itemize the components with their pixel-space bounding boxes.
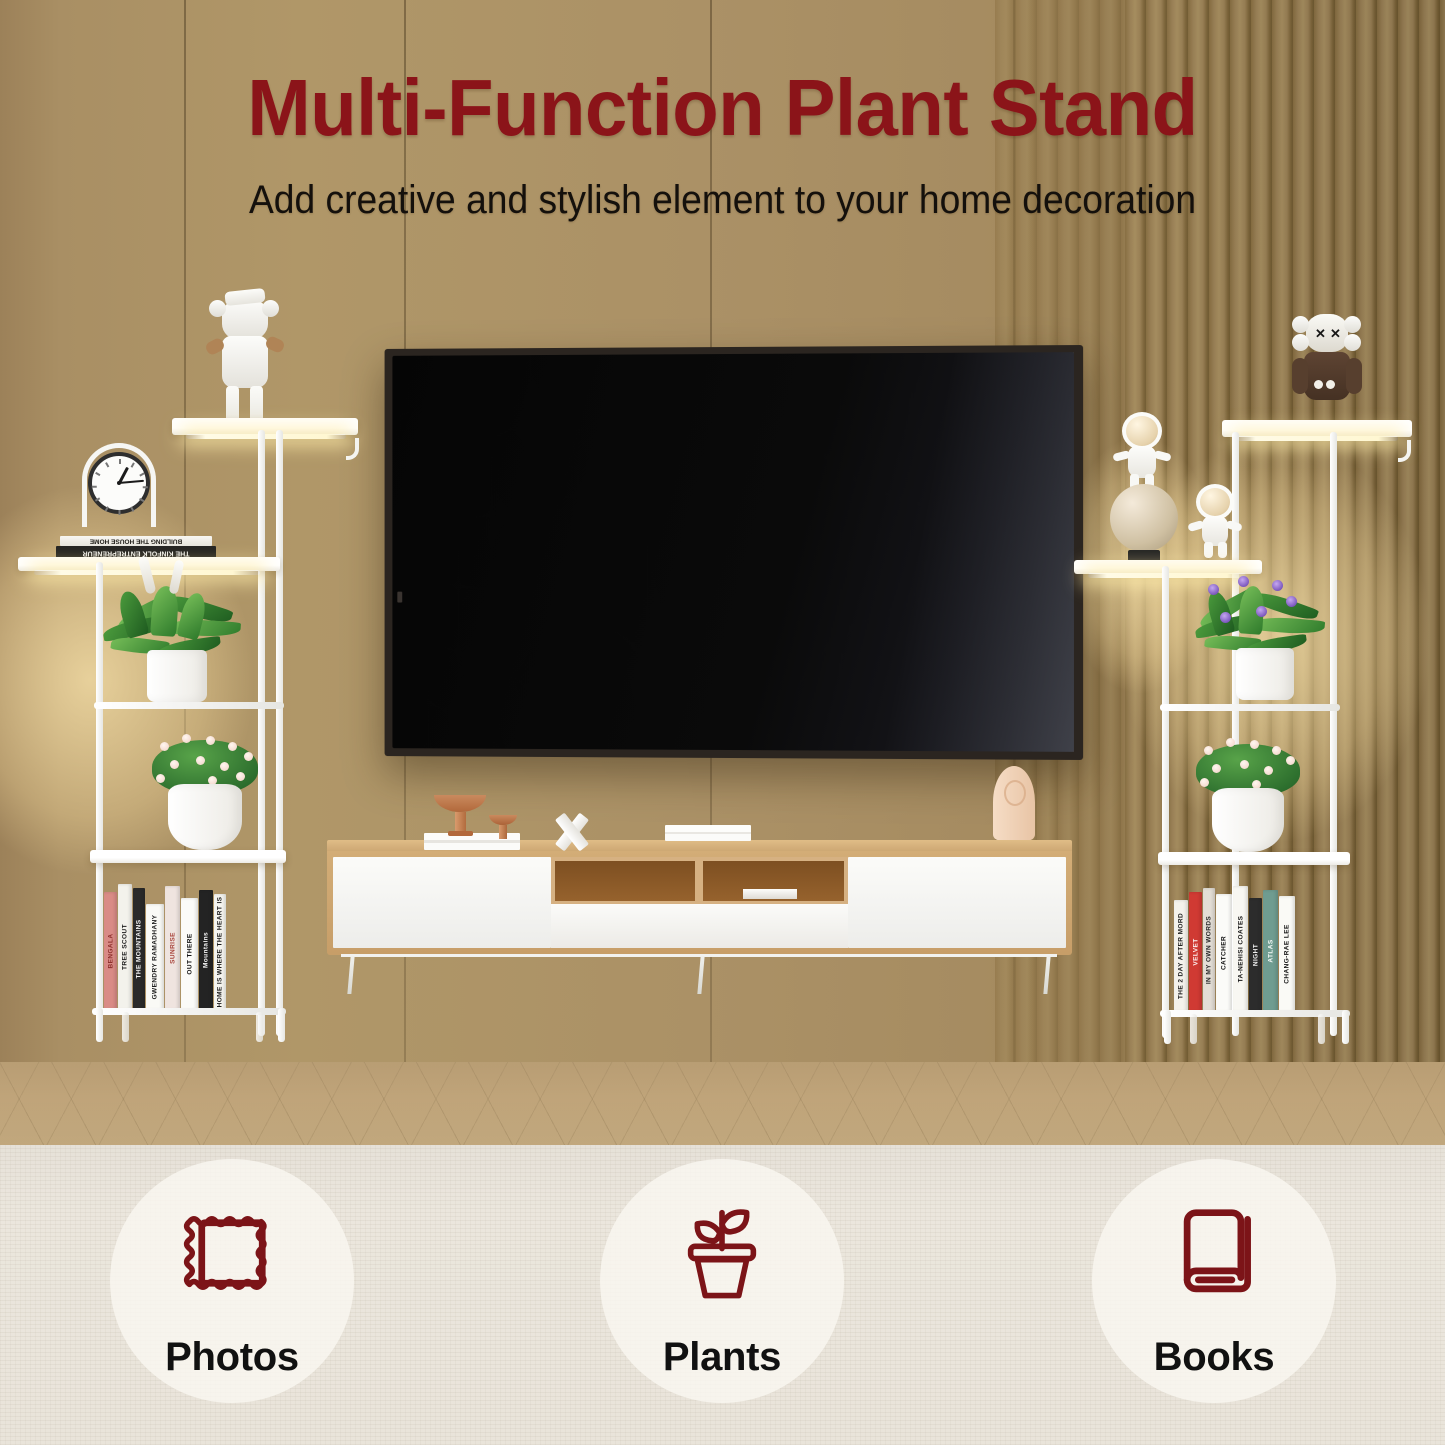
- clock-face: [88, 452, 150, 514]
- stand-foot: [122, 1012, 129, 1042]
- photo-frame-icon: [176, 1197, 288, 1309]
- console-door-left: [333, 857, 551, 948]
- stand-foot: [1164, 1010, 1171, 1044]
- kaws-ear-right: [1344, 316, 1361, 333]
- book-spine: BENGALA: [104, 892, 117, 1010]
- feature-label: Books: [1080, 1335, 1348, 1380]
- x-sculpture: [551, 812, 593, 852]
- feature-photos: Photos: [98, 1159, 366, 1427]
- feature-label: Plants: [588, 1335, 856, 1380]
- book-spine: CATCHER: [1216, 894, 1232, 1012]
- book-spine: HOME IS WHERE THE HEART IS: [214, 894, 226, 1010]
- stand-foot: [1342, 1010, 1349, 1044]
- stand-post: [1162, 566, 1169, 1038]
- book-spine: SUNRISE: [165, 886, 180, 1010]
- face-vase-sculpture: [993, 766, 1035, 840]
- feature-bar: Photos Plants Books: [0, 1145, 1445, 1445]
- book-spine: Mountains: [199, 890, 213, 1010]
- book-spine: TA-NEHISI COATES: [1233, 886, 1248, 1012]
- stand-post: [258, 430, 265, 1036]
- console-cubby-left: [555, 861, 695, 901]
- cubby-book-stack: [743, 889, 797, 899]
- tv-power-button: [397, 592, 402, 603]
- console-book-stack-right: [665, 825, 751, 841]
- led-strip-top: [186, 434, 346, 439]
- bowl-cup: [489, 815, 517, 825]
- kaws-ear-left-2: [1292, 334, 1309, 351]
- book-row-right: THE 2 DAY AFTER MORD VELVET IN MY OWN WO…: [1174, 882, 1295, 1012]
- book-spine: CHANG-RAE LEE: [1279, 896, 1295, 1012]
- plant-pot-round: [168, 784, 242, 850]
- moon-ball: [1110, 484, 1178, 552]
- kaws-button: [1326, 380, 1335, 389]
- top-shelf: [172, 418, 358, 435]
- bowl-base: [448, 831, 473, 836]
- wall-mounted-tv: [385, 345, 1084, 760]
- feature-label: Photos: [98, 1335, 366, 1380]
- book-spine: ATLAS: [1263, 890, 1278, 1012]
- stand-foot: [96, 1008, 103, 1042]
- page-title: Multi-Function Plant Stand: [36, 62, 1409, 154]
- book-spine: IN MY OWN WORDS: [1203, 888, 1215, 1012]
- stand-rail: [94, 702, 284, 709]
- book-spine: THE MOUNTAINS: [133, 888, 145, 1010]
- stand-post: [96, 562, 103, 1038]
- book-spine: VELVET: [1189, 892, 1202, 1012]
- astronaut-leg-right: [1218, 542, 1227, 558]
- astronaut-helmet: [1196, 484, 1234, 520]
- kaws-body: [222, 336, 268, 388]
- book-spine: GWENDRY RAMADHANY: [146, 904, 164, 1010]
- table-clock: [82, 443, 156, 551]
- book-spine: TREE SCOUT: [118, 884, 132, 1010]
- feature-books: Books: [1080, 1159, 1348, 1427]
- room-scene: BUILDING THE HOUSE HOME THE KINFOLK ENTR…: [0, 0, 1445, 1145]
- kaws-ear-right: [262, 300, 279, 317]
- stand-post: [276, 430, 283, 1036]
- copper-bowl-large: [434, 795, 486, 836]
- bowl-stem: [499, 825, 507, 839]
- book-icon: [1158, 1197, 1270, 1309]
- book-spine: OUT THERE: [181, 898, 198, 1010]
- book-spine: THE 2 DAY AFTER MORD: [1174, 900, 1188, 1012]
- clock-center-dot: [117, 481, 121, 485]
- kaws-arm-right: [1346, 358, 1362, 394]
- kaws-body: [1304, 352, 1350, 400]
- astronaut-leg-left: [1204, 542, 1213, 558]
- kaws-ear-left: [209, 300, 226, 317]
- bowl-stem: [455, 812, 466, 831]
- led-strip-top: [1236, 436, 1398, 441]
- book-shelf-plate: [1158, 852, 1350, 865]
- stand-foot: [1190, 1014, 1197, 1044]
- kaws-ear-left: [1292, 316, 1309, 333]
- top-shelf: [1222, 420, 1412, 437]
- stand-foot: [278, 1008, 285, 1042]
- book-shelf-plate: [90, 850, 286, 863]
- bowl-cup: [434, 795, 486, 812]
- kaws-arm-left: [1292, 358, 1308, 394]
- clock-minute-hand: [119, 480, 144, 484]
- stand-rail: [1160, 704, 1340, 711]
- tv-media-console: [327, 840, 1072, 968]
- copper-bowl-small: [489, 815, 517, 839]
- page-subtitle: Add creative and stylish element to your…: [51, 178, 1395, 223]
- book-row-left: BENGALA TREE SCOUT THE MOUNTAINS GWENDRY…: [104, 880, 226, 1010]
- kaws-ear-right-2: [1344, 334, 1361, 351]
- console-drawer-middle: [551, 904, 848, 948]
- kaws-head: ✕ ✕: [1306, 314, 1348, 352]
- kaws-button: [1314, 380, 1323, 389]
- stand-post: [1330, 432, 1337, 1036]
- tv-screen-gloss: [826, 352, 1074, 752]
- console-cubby-right: [703, 861, 844, 901]
- console-body: [327, 851, 1072, 955]
- floor-sheen: [0, 1062, 1445, 1145]
- console-leg-rail: [341, 954, 1057, 957]
- book-spine: NIGHT: [1249, 898, 1262, 1012]
- stand-foot: [256, 1012, 263, 1042]
- plant-pot-round: [1212, 788, 1284, 852]
- shelf-book-top: BUILDING THE HOUSE HOME: [60, 536, 212, 546]
- tv-screen: [392, 352, 1074, 752]
- stand-foot: [1318, 1014, 1325, 1044]
- console-door-right: [848, 857, 1066, 948]
- astronaut-helmet: [1122, 412, 1162, 450]
- console-cubby-wrap: [551, 857, 848, 905]
- plant-pot-cylinder: [147, 650, 207, 702]
- plant-pot-cylinder: [1236, 648, 1294, 700]
- potted-plant-icon: [666, 1197, 778, 1309]
- feature-plants: Plants: [588, 1159, 856, 1427]
